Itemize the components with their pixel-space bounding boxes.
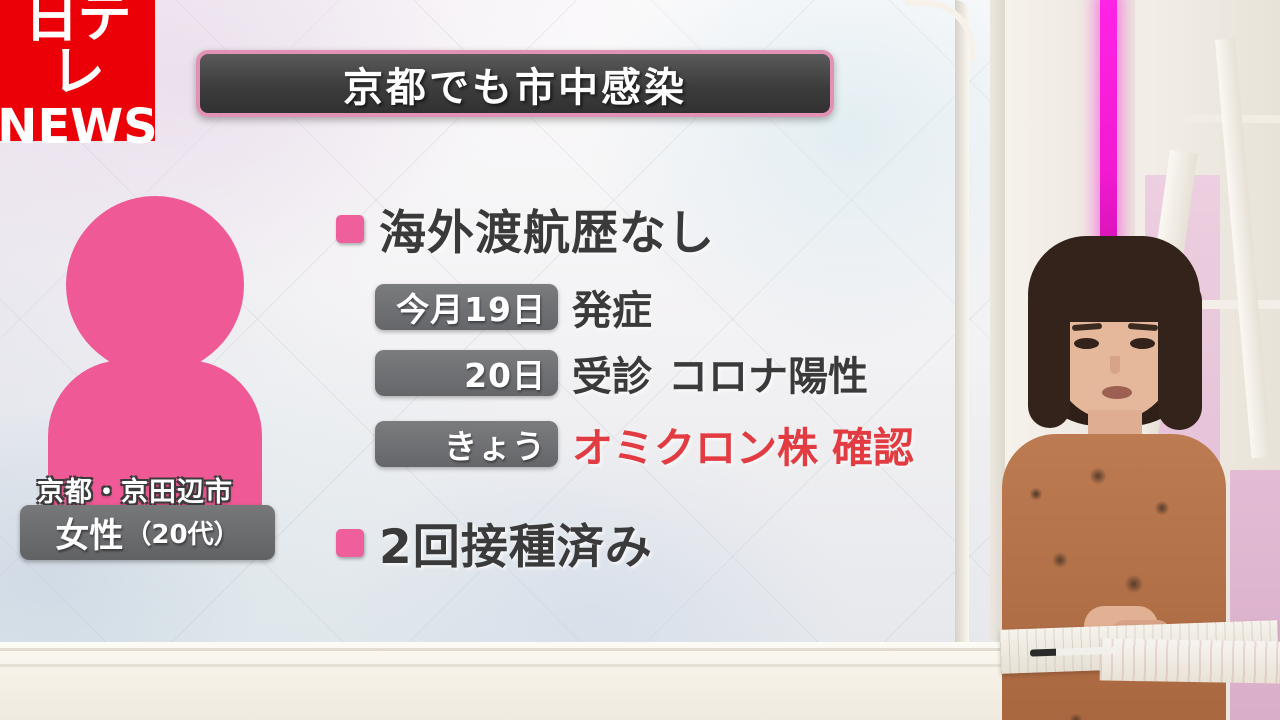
- bullet-label-vaccination: 2回接種済み: [379, 508, 653, 577]
- pink-square-bullet-icon: [336, 215, 364, 243]
- timeline-date-chip-onset: 今月19日: [375, 284, 558, 330]
- subject-age-label: （20代）: [125, 514, 239, 551]
- broadcast-screen: 日テレ NEWS 京都でも市中感染 京都・京田辺市 女性 （20代） 海外渡航歴…: [0, 0, 1280, 720]
- anchor-eye-right: [1130, 338, 1155, 349]
- desk-papers-secondary: [1100, 638, 1280, 683]
- timeline-result-covid-positive: コロナ陽性: [668, 344, 868, 402]
- timeline-body-consultation: 受診 コロナ陽性: [572, 344, 868, 402]
- headline-bar: 京都でも市中感染: [196, 50, 834, 117]
- desk-edge-line-upper: [0, 648, 1010, 651]
- timeline-date-chip-consultation: 20日: [375, 350, 558, 396]
- headline-text: 京都でも市中感染: [343, 55, 687, 113]
- silhouette-head: [66, 196, 244, 374]
- timeline-date-label-consultation: 20日: [464, 349, 546, 397]
- anchor-eye-left: [1074, 338, 1099, 349]
- timeline-variant-confirmed: 確認: [832, 414, 914, 474]
- bullet-item-travel-history: 海外渡航歴なし: [336, 194, 715, 263]
- timeline-variant-name: オミクロン株: [572, 414, 818, 474]
- subject-location-label: 京都・京田辺市: [10, 470, 260, 509]
- timeline-date-label-onset: 今月19日: [396, 283, 546, 331]
- pink-square-bullet-icon-2: [336, 529, 364, 557]
- anchor-hair-left: [1028, 278, 1070, 428]
- timeline-row-consultation: 20日 受診 コロナ陽性: [375, 344, 868, 402]
- panel-frame-right: [955, 0, 969, 655]
- neon-light-strip: [1100, 0, 1117, 245]
- timeline-date-chip-today: きょう: [375, 421, 558, 467]
- logo-english-text: NEWS: [0, 103, 158, 151]
- timeline-row-omicron: きょう オミクロン株 確認: [375, 414, 914, 474]
- timeline-body-onset: 発症: [572, 278, 652, 336]
- ntv-news-logo: 日テレ NEWS: [0, 0, 155, 141]
- subject-descriptor-box: 女性 （20代）: [20, 505, 275, 560]
- anchor-nose: [1110, 356, 1120, 374]
- bullet-item-vaccination: 2回接種済み: [336, 508, 653, 577]
- studio-desk: [0, 642, 1010, 720]
- timeline-date-label-today: きょう: [444, 420, 546, 468]
- desk-edge-line-lower: [0, 664, 1010, 667]
- bullet-label-travel-history: 海外渡航歴なし: [379, 194, 715, 263]
- anchor-mouth: [1102, 386, 1132, 399]
- logo-japanese-text: 日テレ: [0, 0, 155, 99]
- timeline-event-consultation: 受診: [572, 344, 652, 402]
- timeline-body-omicron: オミクロン株 確認: [572, 414, 914, 474]
- timeline-row-onset: 今月19日 発症: [375, 278, 652, 336]
- anchor-hair-right: [1158, 278, 1202, 430]
- subject-gender-label: 女性: [55, 508, 123, 557]
- timeline-event-onset: 発症: [572, 278, 652, 336]
